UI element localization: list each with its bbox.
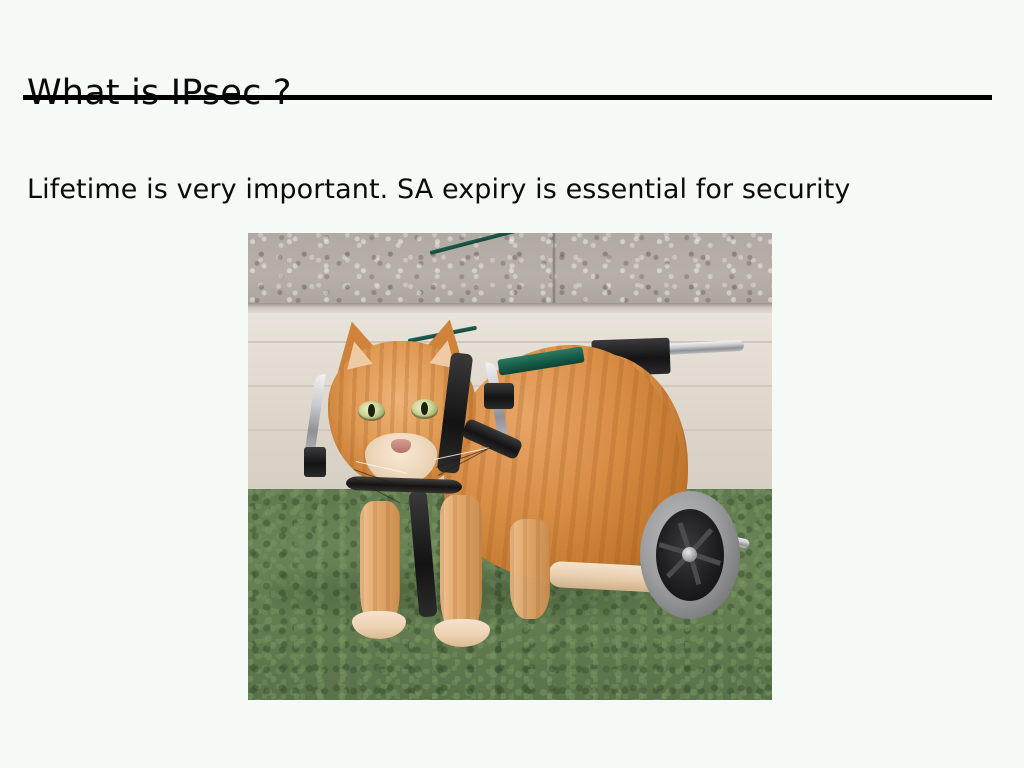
photo-scene bbox=[248, 233, 772, 700]
slide-canvas: What is IPsec ? Lifetime is very importa… bbox=[0, 0, 1024, 768]
cat-wheelchair-photo bbox=[248, 233, 772, 700]
cart-wheel-axle bbox=[682, 547, 697, 562]
concrete-wall bbox=[248, 233, 772, 311]
title-divider bbox=[23, 95, 992, 100]
wall-seam bbox=[552, 233, 556, 311]
harness-buckle bbox=[484, 383, 514, 409]
slide-body-text: Lifetime is very important. SA expiry is… bbox=[27, 172, 850, 208]
cat-front-left-leg bbox=[360, 501, 400, 629]
cat-front-right-leg bbox=[440, 495, 482, 635]
page-title: What is IPsec ? bbox=[27, 71, 292, 115]
cat-left-pupil bbox=[368, 404, 375, 417]
cat-right-pupil bbox=[421, 402, 428, 415]
cat-rear-leg bbox=[510, 519, 550, 619]
cart-hoop-end-cap bbox=[304, 447, 326, 477]
